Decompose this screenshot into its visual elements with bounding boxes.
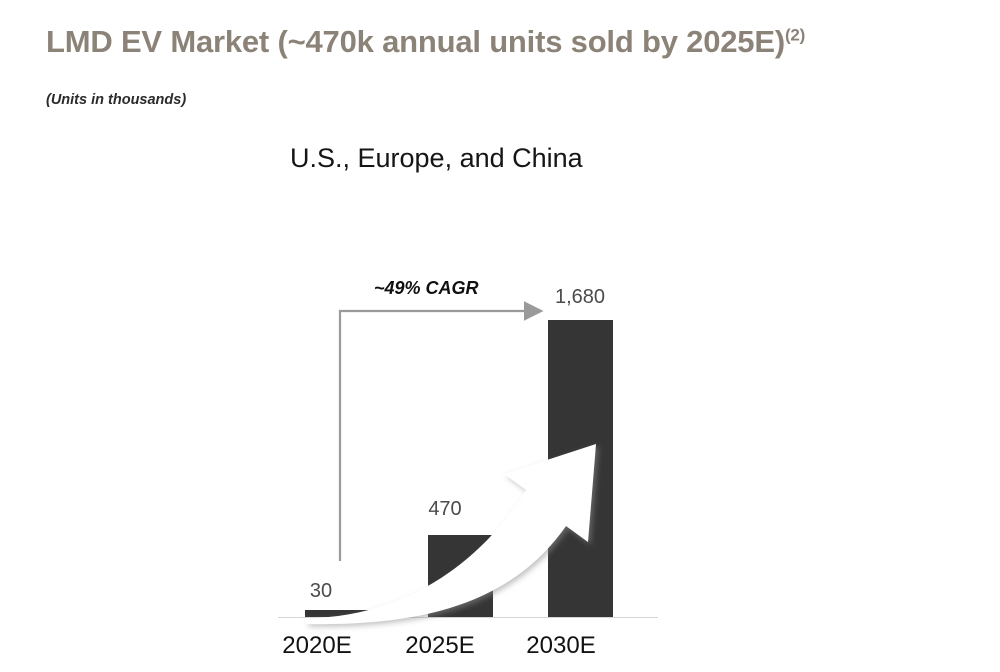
bar-2020e[interactable] (305, 610, 372, 617)
data-label-2030e: 1,680 (541, 286, 619, 309)
plot-area (278, 260, 658, 618)
x-axis-line (278, 617, 658, 618)
x-tick-label-2025e: 2025E (401, 632, 479, 660)
chart-title: U.S., Europe, and China (290, 143, 583, 174)
data-label-2025e: 470 (406, 498, 484, 521)
bar-2025e[interactable] (428, 535, 493, 617)
x-tick-label-2020e: 2020E (278, 632, 356, 660)
chart-region: U.S., Europe, and China ~49% CAGR 30 (0, 0, 1000, 672)
x-tick-label-2030e: 2030E (522, 632, 600, 660)
bar-2030e[interactable] (548, 320, 613, 617)
data-label-2020e: 30 (282, 580, 360, 603)
